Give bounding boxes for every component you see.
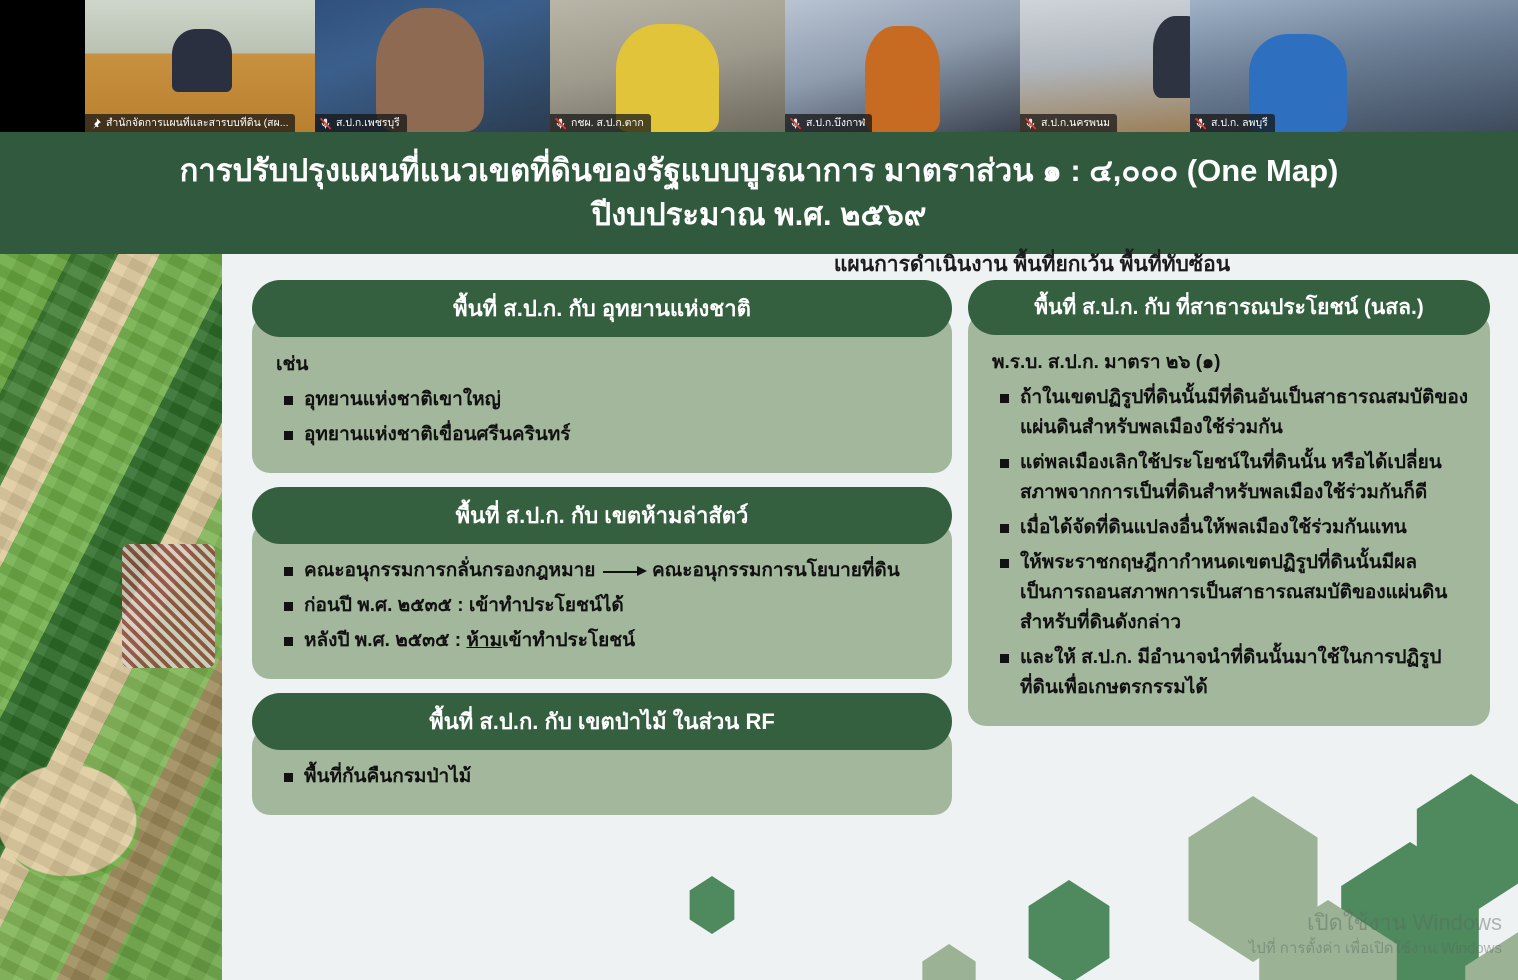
card-body: คณะอนุกรรมการกลั่นกรองกฎหมาย คณะอนุกรรมก… — [252, 522, 952, 679]
video-tile-3[interactable]: กชผ. ส.ป.ก.ตาก — [550, 0, 785, 132]
participant-namebar: กชผ. ส.ป.ก.ตาก — [550, 114, 651, 132]
participant-name: กชผ. ส.ป.ก.ตาก — [571, 116, 644, 130]
participant-name: สำนักจัดการแผนที่และสารบบที่ดิน (สผ... — [106, 116, 288, 130]
pin-icon — [89, 117, 102, 130]
card-lead: เช่น — [276, 349, 932, 379]
bullet-item: ก่อนปี พ.ศ. ๒๕๓๕ : เข้าทำประโยชน์ได้ — [270, 591, 932, 621]
participant-namebar: ส.ป.ก.บึงกาฬ — [785, 114, 872, 132]
bullet-item: อุทยานแห่งชาติเขาใหญ่ — [270, 385, 932, 415]
underlined-text: ห้าม — [466, 630, 502, 651]
card-header: พื้นที่ ส.ป.ก. กับ เขตป่าไม้ ในส่วน RF — [252, 693, 952, 750]
participant-namebar: ส.ป.ก.เพชรบุรี — [315, 114, 407, 132]
video-feed — [315, 0, 550, 132]
video-tile-6[interactable]: ส.ป.ก. ลพบุรี — [1190, 0, 1518, 132]
bullet-item: และให้ ส.ป.ก. มีอำนาจนำที่ดินนั้นมาใช้ใน… — [986, 643, 1470, 703]
slide-content-board: แผนการดำเนินงาน พื้นที่ยกเว้น พื้นที่ทับ… — [222, 254, 1518, 980]
card-header: พื้นที่ ส.ป.ก. กับ อุทยานแห่งชาติ — [252, 280, 952, 337]
bullet-item: พื้นที่กันคืนกรมป่าไม้ — [270, 762, 932, 792]
left-column: พื้นที่ ส.ป.ก. กับ อุทยานแห่งชาติเช่นอุท… — [252, 280, 952, 829]
video-tile-2[interactable]: ส.ป.ก.เพชรบุรี — [315, 0, 550, 132]
left-card-2: พื้นที่ ส.ป.ก. กับ เขตห้ามล่าสัตว์คณะอนุ… — [252, 487, 952, 679]
card-lead: พ.ร.บ. ส.ป.ก. มาตรา ๒๖ (๑) — [992, 347, 1470, 377]
bullet-item: หลังปี พ.ศ. ๒๕๓๕ : ห้ามเข้าทำประโยชน์ — [270, 626, 932, 656]
mic-muted-icon — [1024, 117, 1037, 130]
slide-title-line1: การปรับปรุงแผนที่แนวเขตที่ดินของรัฐแบบบู… — [180, 149, 1339, 193]
card-header: พื้นที่ ส.ป.ก. กับ ที่สาธารณประโยชน์ (นส… — [968, 280, 1490, 335]
card-header: พื้นที่ ส.ป.ก. กับ เขตห้ามล่าสัตว์ — [252, 487, 952, 544]
left-card-3: พื้นที่ ส.ป.ก. กับ เขตป่าไม้ ในส่วน RFพื… — [252, 693, 952, 815]
slide-title-line2: ปีงบประมาณ พ.ศ. ๒๕๖๙ — [592, 193, 927, 237]
mic-muted-icon — [554, 117, 567, 130]
mic-muted-icon — [319, 117, 332, 130]
left-card-1: พื้นที่ ส.ป.ก. กับ อุทยานแห่งชาติเช่นอุท… — [252, 280, 952, 473]
card-body: พ.ร.บ. ส.ป.ก. มาตรา ๒๖ (๑)ถ้าในเขตปฏิรูป… — [968, 313, 1490, 726]
video-feed — [785, 0, 1020, 132]
video-feed — [85, 0, 315, 132]
participant-name: ส.ป.ก.เพชรบุรี — [336, 116, 400, 130]
screen-root: สำนักจัดการแผนที่และสารบบที่ดิน (สผ...ส.… — [0, 0, 1518, 980]
mic-muted-icon — [1194, 117, 1207, 130]
video-feed — [1190, 0, 1518, 132]
participant-name: ส.ป.ก.บึงกาฬ — [806, 116, 865, 130]
aerial-farmland-photo — [0, 254, 222, 980]
video-tile-1[interactable]: สำนักจัดการแผนที่และสารบบที่ดิน (สผ... — [85, 0, 315, 132]
card-bullet-list: พื้นที่กันคืนกรมป่าไม้ — [270, 762, 932, 792]
participant-name: ส.ป.ก.นครพนม — [1041, 116, 1110, 130]
slide-banner: การปรับปรุงแผนที่แนวเขตที่ดินของรัฐแบบบู… — [0, 132, 1518, 254]
bullet-item: อุทยานแห่งชาติเขื่อนศรีนครินทร์ — [270, 420, 932, 450]
video-feed — [550, 0, 785, 132]
bullet-item: เมื่อได้จัดที่ดินแปลงอื่นให้พลเมืองใช้ร่… — [986, 513, 1470, 543]
photo-village-cluster — [122, 544, 215, 667]
video-tile-4[interactable]: ส.ป.ก.บึงกาฬ — [785, 0, 1020, 132]
right-column: พื้นที่ ส.ป.ก. กับ ที่สาธารณประโยชน์ (นส… — [968, 280, 1490, 740]
bullet-item: ให้พระราชกฤษฎีกากำหนดเขตปฏิรูปที่ดินนั้น… — [986, 548, 1470, 638]
participant-name: ส.ป.ก. ลพบุรี — [1211, 116, 1268, 130]
participant-namebar: ส.ป.ก. ลพบุรี — [1190, 114, 1275, 132]
mic-muted-icon — [789, 117, 802, 130]
card-bullet-list: อุทยานแห่งชาติเขาใหญ่อุทยานแห่งชาติเขื่อ… — [270, 385, 932, 450]
presentation-slide: การปรับปรุงแผนที่แนวเขตที่ดินของรัฐแบบบู… — [0, 132, 1518, 980]
card-body: เช่นอุทยานแห่งชาติเขาใหญ่อุทยานแห่งชาติเ… — [252, 315, 952, 473]
card-bullet-list: ถ้าในเขตปฏิรูปที่ดินนั้นมีที่ดินอันเป็นส… — [986, 383, 1470, 703]
video-filmstrip: สำนักจัดการแผนที่และสารบบที่ดิน (สผ...ส.… — [0, 0, 1518, 132]
bullet-item: แต่พลเมืองเลิกใช้ประโยชน์ในที่ดินนั้น หร… — [986, 448, 1470, 508]
bullet-item: คณะอนุกรรมการกลั่นกรองกฎหมาย คณะอนุกรรมก… — [270, 556, 932, 586]
participant-namebar: สำนักจัดการแผนที่และสารบบที่ดิน (สผ... — [85, 114, 295, 132]
card-bullet-list: คณะอนุกรรมการกลั่นกรองกฎหมาย คณะอนุกรรมก… — [270, 556, 932, 656]
participant-namebar: ส.ป.ก.นครพนม — [1020, 114, 1117, 132]
bullet-item: ถ้าในเขตปฏิรูปที่ดินนั้นมีที่ดินอันเป็นส… — [986, 383, 1470, 443]
right-card-1: พื้นที่ ส.ป.ก. กับ ที่สาธารณประโยชน์ (นส… — [968, 280, 1490, 726]
slide-subtitle: แผนการดำเนินงาน พื้นที่ยกเว้น พื้นที่ทับ… — [582, 248, 1482, 281]
